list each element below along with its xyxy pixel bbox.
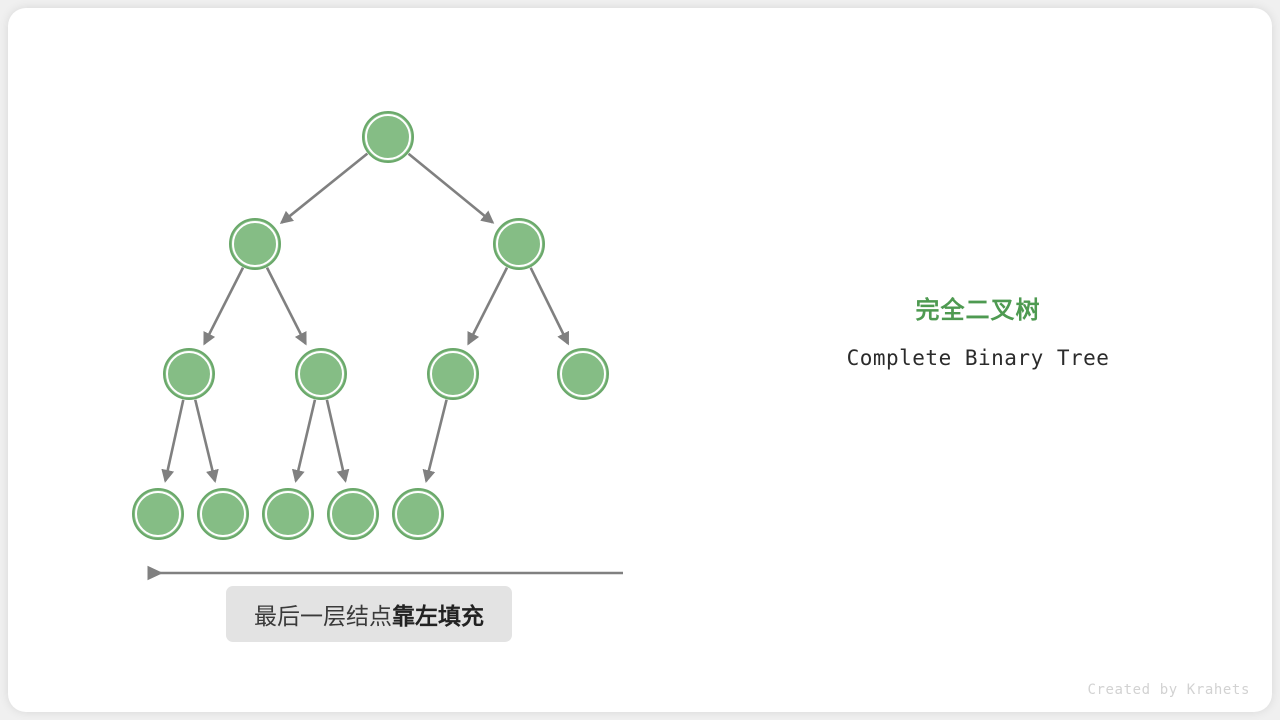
tree-edge	[281, 154, 367, 223]
tree-edge	[267, 268, 306, 344]
tree-edge	[426, 400, 446, 481]
tree-node	[263, 489, 313, 539]
last-level-note-badge: 最后一层结点靠左填充	[226, 586, 512, 642]
tree-node-inner-ring	[233, 222, 277, 266]
tree-node	[558, 349, 608, 399]
tree-node	[296, 349, 346, 399]
tree-node-inner-ring	[167, 352, 211, 396]
screenshot-canvas: 完全二叉树 Complete Binary Tree 最后一层结点靠左填充 Cr…	[0, 0, 1280, 720]
tree-node	[428, 349, 478, 399]
tree-node	[164, 349, 214, 399]
note-text-bold: 靠左填充	[392, 603, 484, 629]
tree-edge	[468, 268, 507, 344]
tree-edge	[296, 400, 315, 481]
tree-edges	[165, 154, 568, 481]
tree-node-inner-ring	[331, 492, 375, 536]
tree-node	[133, 489, 183, 539]
credit-label: Created by Krahets	[1087, 682, 1250, 698]
tree-node	[494, 219, 544, 269]
diagram-card: 完全二叉树 Complete Binary Tree 最后一层结点靠左填充 Cr…	[8, 8, 1272, 712]
tree-node-inner-ring	[396, 492, 440, 536]
tree-edge	[165, 400, 183, 481]
tree-node-inner-ring	[266, 492, 310, 536]
tree-edge	[327, 400, 346, 481]
tree-node-inner-ring	[497, 222, 541, 266]
page-title-en: Complete Binary Tree	[768, 344, 1188, 372]
tree-node	[363, 112, 413, 162]
note-text-normal: 最后一层结点	[254, 603, 392, 629]
tree-node-inner-ring	[431, 352, 475, 396]
tree-node	[393, 489, 443, 539]
tree-node-inner-ring	[299, 352, 343, 396]
tree-node-inner-ring	[136, 492, 180, 536]
tree-edge	[204, 268, 243, 344]
tree-node	[230, 219, 280, 269]
tree-edge	[195, 400, 215, 481]
tree-nodes	[133, 112, 608, 539]
tree-edge	[409, 154, 493, 223]
tree-node	[328, 489, 378, 539]
title-block: 完全二叉树 Complete Binary Tree	[768, 296, 1188, 372]
tree-node-inner-ring	[561, 352, 605, 396]
tree-node-inner-ring	[366, 115, 410, 159]
tree-node	[198, 489, 248, 539]
tree-edge	[531, 268, 568, 344]
page-title-cn: 完全二叉树	[768, 296, 1188, 326]
tree-node-inner-ring	[201, 492, 245, 536]
